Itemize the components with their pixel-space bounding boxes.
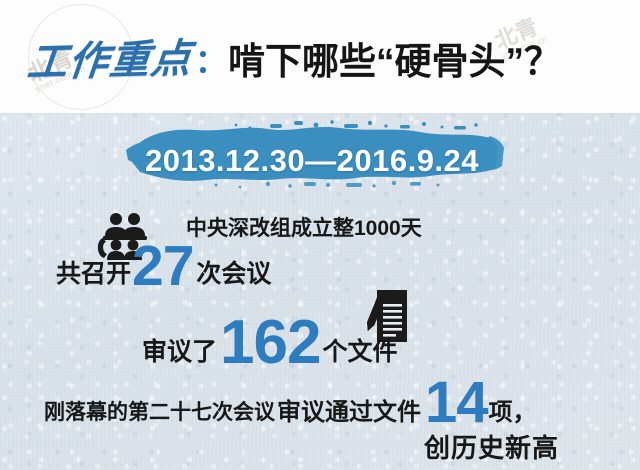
page-title: 工作重点 ： 啃下哪些“硬骨头”？: [0, 0, 640, 113]
meetings-prefix: 共召开: [56, 259, 131, 289]
date-range-text: 2013.12.30—2016.9.24: [118, 116, 506, 192]
title-calligraphy: 工作重点: [25, 25, 195, 87]
infographic-poster: 北青 ynet.com.cn 北青 ynet.com.cn 工作重点 ： 啃下哪…: [0, 0, 640, 470]
date-banner: 2013.12.30—2016.9.24: [118, 116, 506, 192]
title-colon: ：: [195, 36, 227, 82]
documents-prefix: 审议了: [142, 337, 217, 367]
poster-body: 2013.12.30—2016.9.24 中央深改组成立整1000天: [0, 113, 640, 470]
header-band: 北青 ynet.com.cn 北青 ynet.com.cn 工作重点 ： 啃下哪…: [0, 0, 640, 114]
stat-row-latest: 刚落幕的第二十七次会议 审议通过文件 14 项，: [44, 378, 537, 428]
headline-text: 中央深改组成立整1000天: [186, 212, 422, 242]
documents-suffix: 个文件: [322, 337, 397, 367]
latest-value: 14: [425, 378, 488, 428]
latest-suffix: 项，: [489, 399, 537, 426]
meetings-value: 27: [132, 241, 193, 291]
stat-row-documents: 审议了 162 个文件: [142, 316, 397, 370]
latest-note: 创历史新高: [424, 428, 559, 465]
title-question: 啃下哪些“硬骨头”？: [228, 31, 561, 85]
documents-value: 162: [220, 316, 320, 370]
stat-row-meetings: 共召开 27 次会议: [56, 241, 271, 291]
latest-prefix: 审议通过文件: [277, 399, 421, 426]
meetings-suffix: 次会议: [196, 259, 271, 289]
latest-lead: 刚落幕的第二十七次会议: [44, 400, 275, 426]
